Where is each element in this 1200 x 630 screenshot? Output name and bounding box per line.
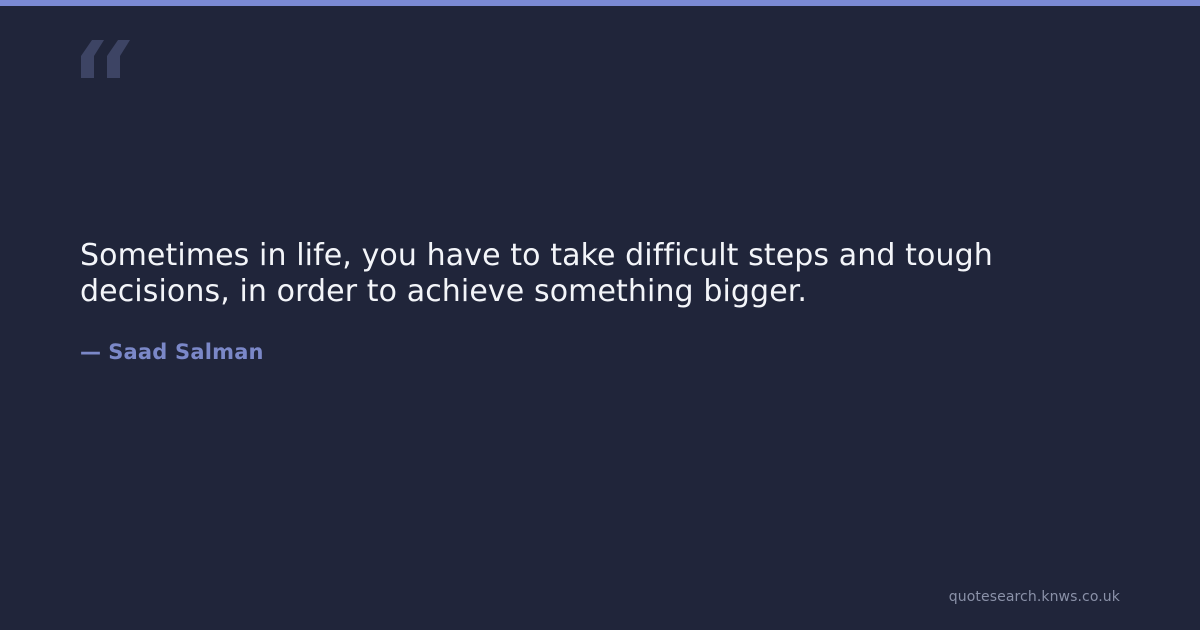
- double-quote-open-icon: [78, 32, 134, 88]
- quote-content: Sometimes in life, you have to take diff…: [80, 238, 1124, 365]
- author-dash: —: [80, 340, 101, 364]
- site-watermark: quotesearch.knws.co.uk: [949, 588, 1120, 606]
- top-accent-bar: [0, 0, 1200, 6]
- quote-text: Sometimes in life, you have to take diff…: [80, 238, 1124, 310]
- quote-author: —Saad Salman: [80, 339, 1124, 365]
- quote-card: Sometimes in life, you have to take diff…: [0, 0, 1200, 630]
- author-name: Saad Salman: [108, 340, 264, 364]
